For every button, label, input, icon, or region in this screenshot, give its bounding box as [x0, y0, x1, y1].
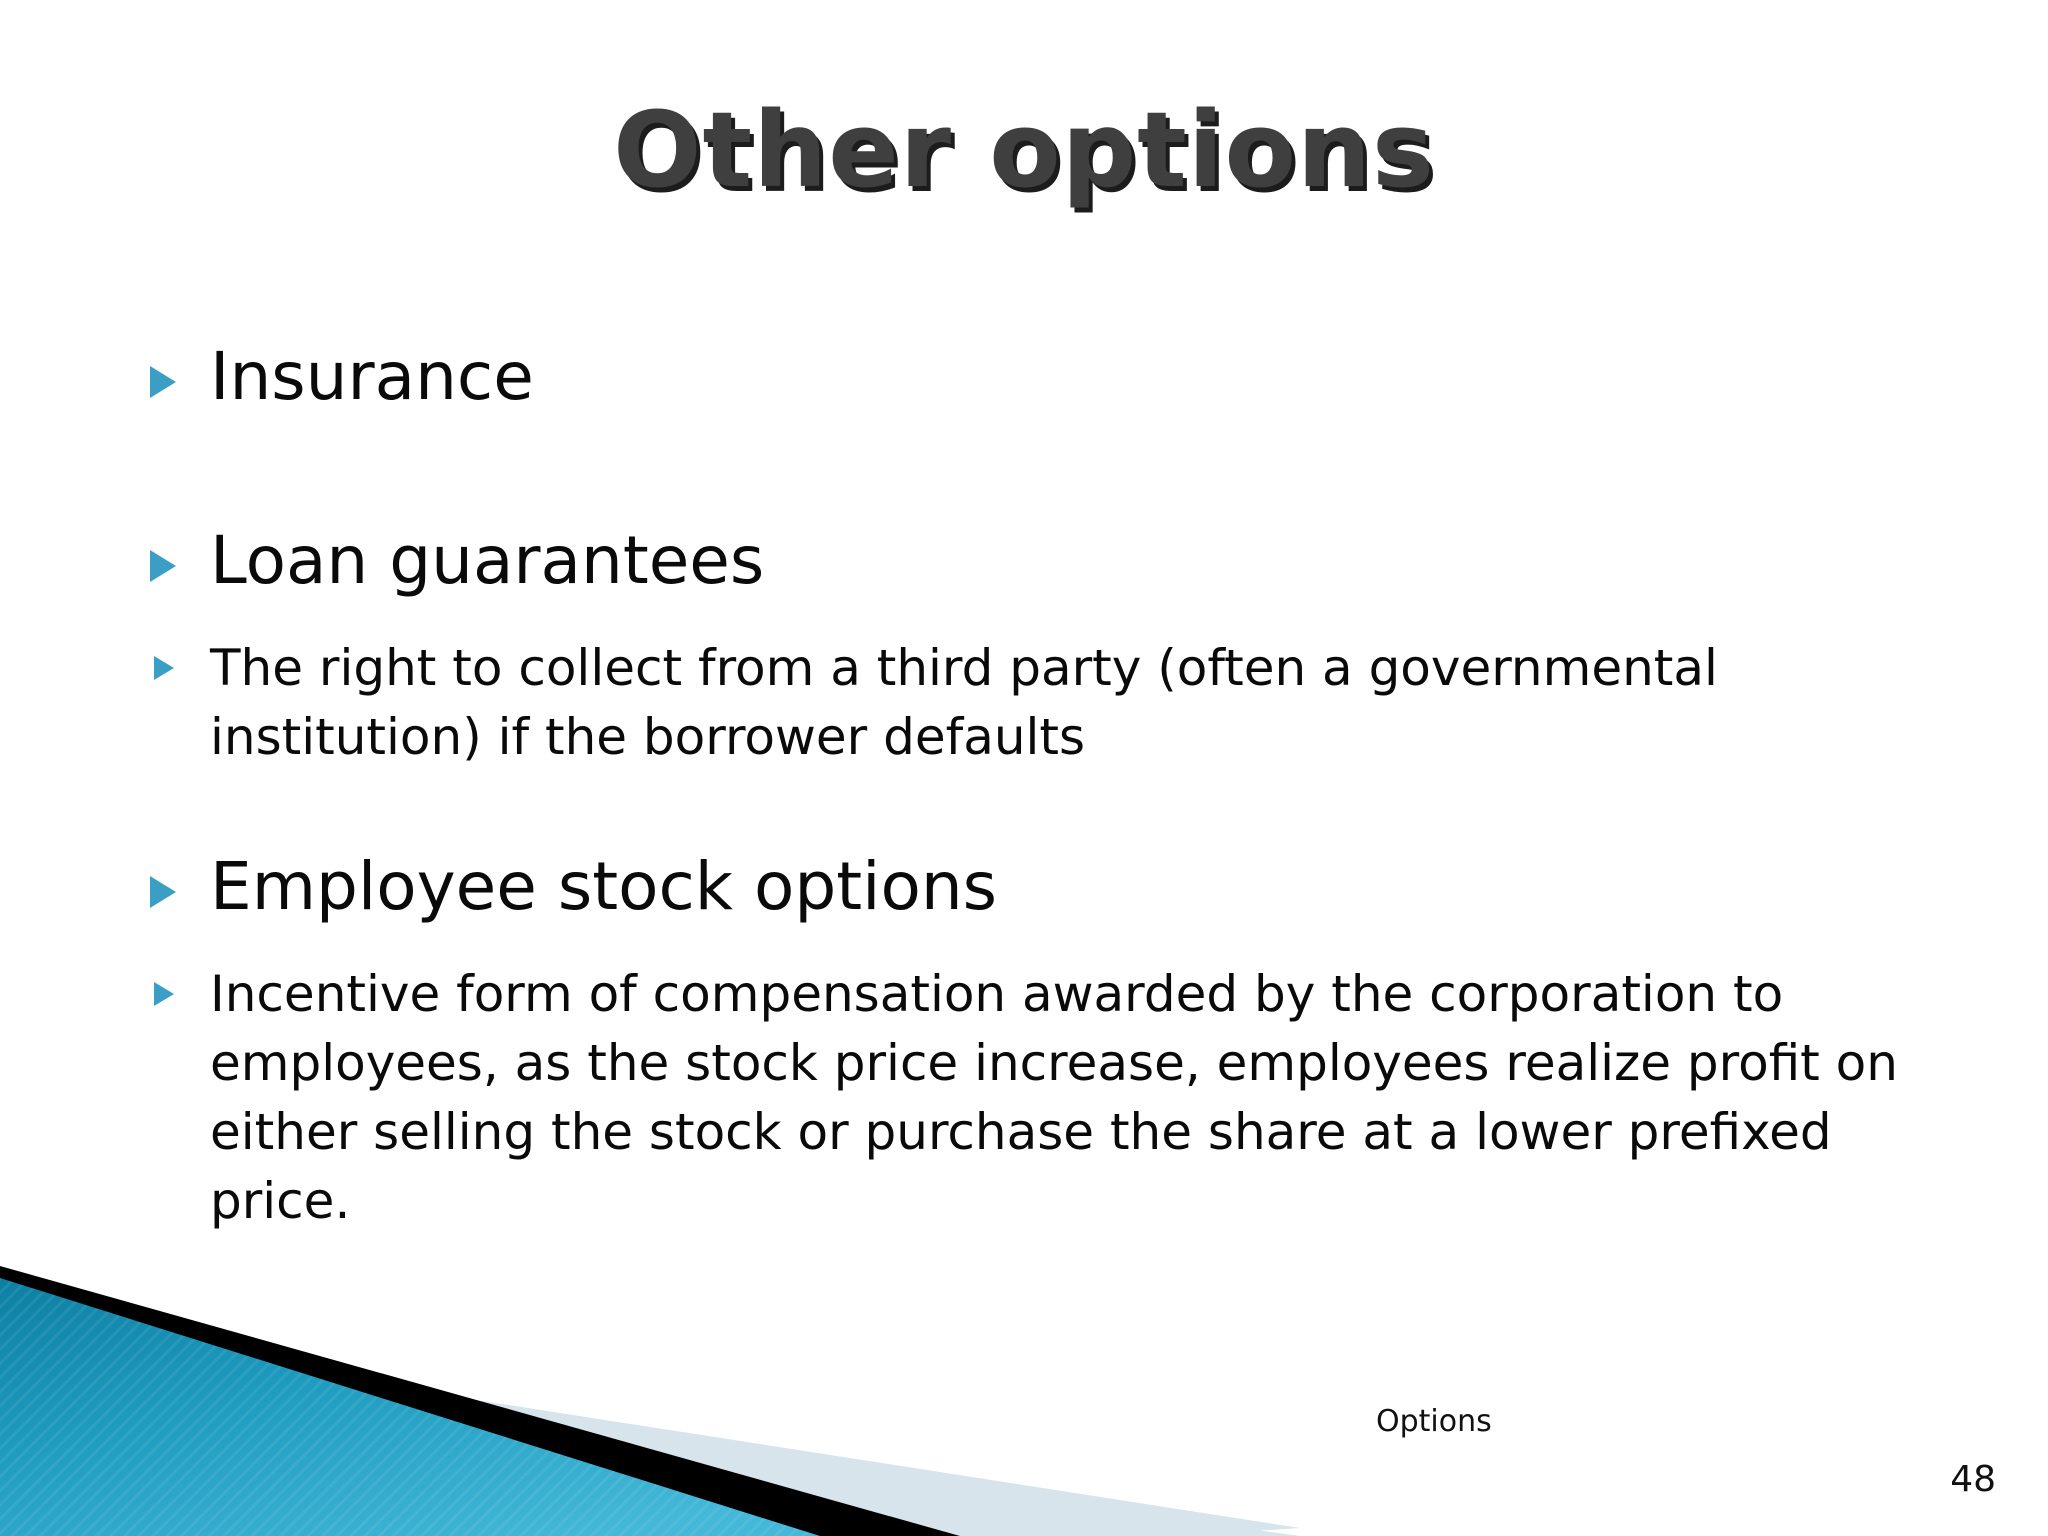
list-item-loan-guarantees: Loan guarantees — [136, 524, 1936, 598]
spacer — [136, 930, 1936, 960]
triangle-bullet-icon — [150, 366, 176, 398]
corner-decoration-graphic — [0, 1206, 1300, 1536]
triangle-bullet-icon — [154, 982, 174, 1006]
slide-body: Insurance Loan guarantees The right to c… — [136, 340, 1936, 1236]
list-item-loan-guarantees-detail: The right to collect from a third party … — [136, 634, 1936, 772]
deco-band-pale — [0, 1356, 1300, 1536]
deco-triangle-teal — [0, 1278, 820, 1536]
deco-triangle-texture — [0, 1278, 820, 1536]
spacer — [136, 772, 1936, 850]
triangle-bullet-icon — [154, 656, 174, 680]
spacer — [136, 604, 1936, 634]
deco-band-black — [0, 1266, 960, 1536]
list-item-employee-stock-options-detail: Incentive form of compensation awarded b… — [136, 960, 1936, 1236]
list-item-label: Loan guarantees — [210, 522, 764, 599]
deco-band-pale-2 — [0, 1326, 1300, 1536]
slide-canvas: Other options Insurance Loan guarantees … — [0, 0, 2048, 1536]
page-title: Other options — [0, 96, 2048, 205]
footer-label: Options — [1376, 1404, 1492, 1439]
list-item-label: Employee stock options — [210, 848, 997, 925]
page-number: 48 — [1950, 1459, 1996, 1500]
list-item-employee-stock-options: Employee stock options — [136, 850, 1936, 924]
triangle-bullet-icon — [150, 550, 176, 582]
list-item-label: The right to collect from a third party … — [210, 639, 1718, 766]
spacer — [136, 420, 1936, 524]
triangle-bullet-icon — [150, 876, 176, 908]
list-item-label: Incentive form of compensation awarded b… — [210, 965, 1898, 1230]
list-item-insurance: Insurance — [136, 340, 1936, 414]
list-item-label: Insurance — [210, 338, 534, 415]
